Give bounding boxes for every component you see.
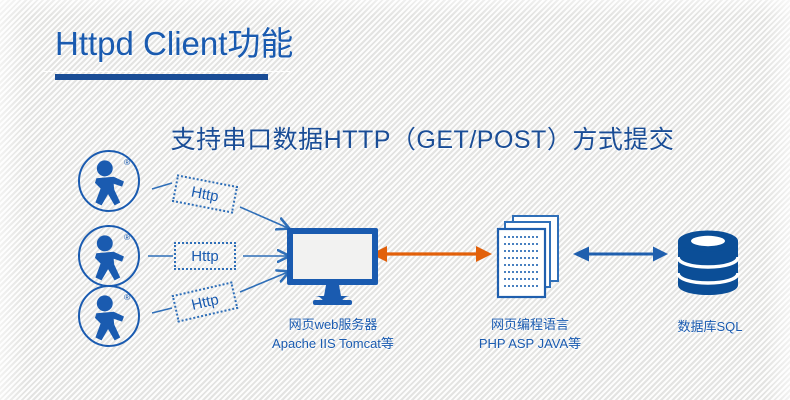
database-cylinder[interactable]	[672, 228, 744, 298]
svg-text:®: ®	[124, 232, 131, 242]
caption-line-1: 网页web服务器	[253, 315, 413, 334]
person-icon: ®	[80, 152, 138, 210]
web-language-documents[interactable]	[493, 213, 565, 303]
monitor-icon	[285, 226, 380, 306]
caption-line-2: Apache IIS Tomcat等	[253, 334, 413, 353]
caption-line-2: PHP ASP JAVA等	[450, 334, 610, 353]
caption-line-1: 数据库SQL	[630, 317, 790, 336]
svg-text:®: ®	[124, 292, 131, 302]
client-person-icon-3[interactable]: ®	[78, 285, 140, 347]
person-icon: ®	[80, 227, 138, 285]
arrow-server-to-language	[371, 246, 492, 262]
web-server-monitor[interactable]	[285, 226, 380, 306]
caption-database: 数据库SQL	[630, 317, 790, 336]
documents-icon	[493, 213, 565, 303]
person-icon: ®	[80, 287, 138, 345]
http-tag-2: Http	[174, 242, 236, 270]
client-person-icon-2[interactable]: ®	[78, 225, 140, 287]
svg-text:®: ®	[124, 157, 131, 167]
arrow-language-to-database	[573, 247, 668, 262]
database-icon	[672, 228, 744, 298]
caption-web-language: 网页编程语言 PHP ASP JAVA等	[450, 315, 610, 353]
client-person-icon-1[interactable]: ®	[78, 150, 140, 212]
caption-line-1: 网页编程语言	[450, 315, 610, 334]
caption-web-server: 网页web服务器 Apache IIS Tomcat等	[253, 315, 413, 353]
